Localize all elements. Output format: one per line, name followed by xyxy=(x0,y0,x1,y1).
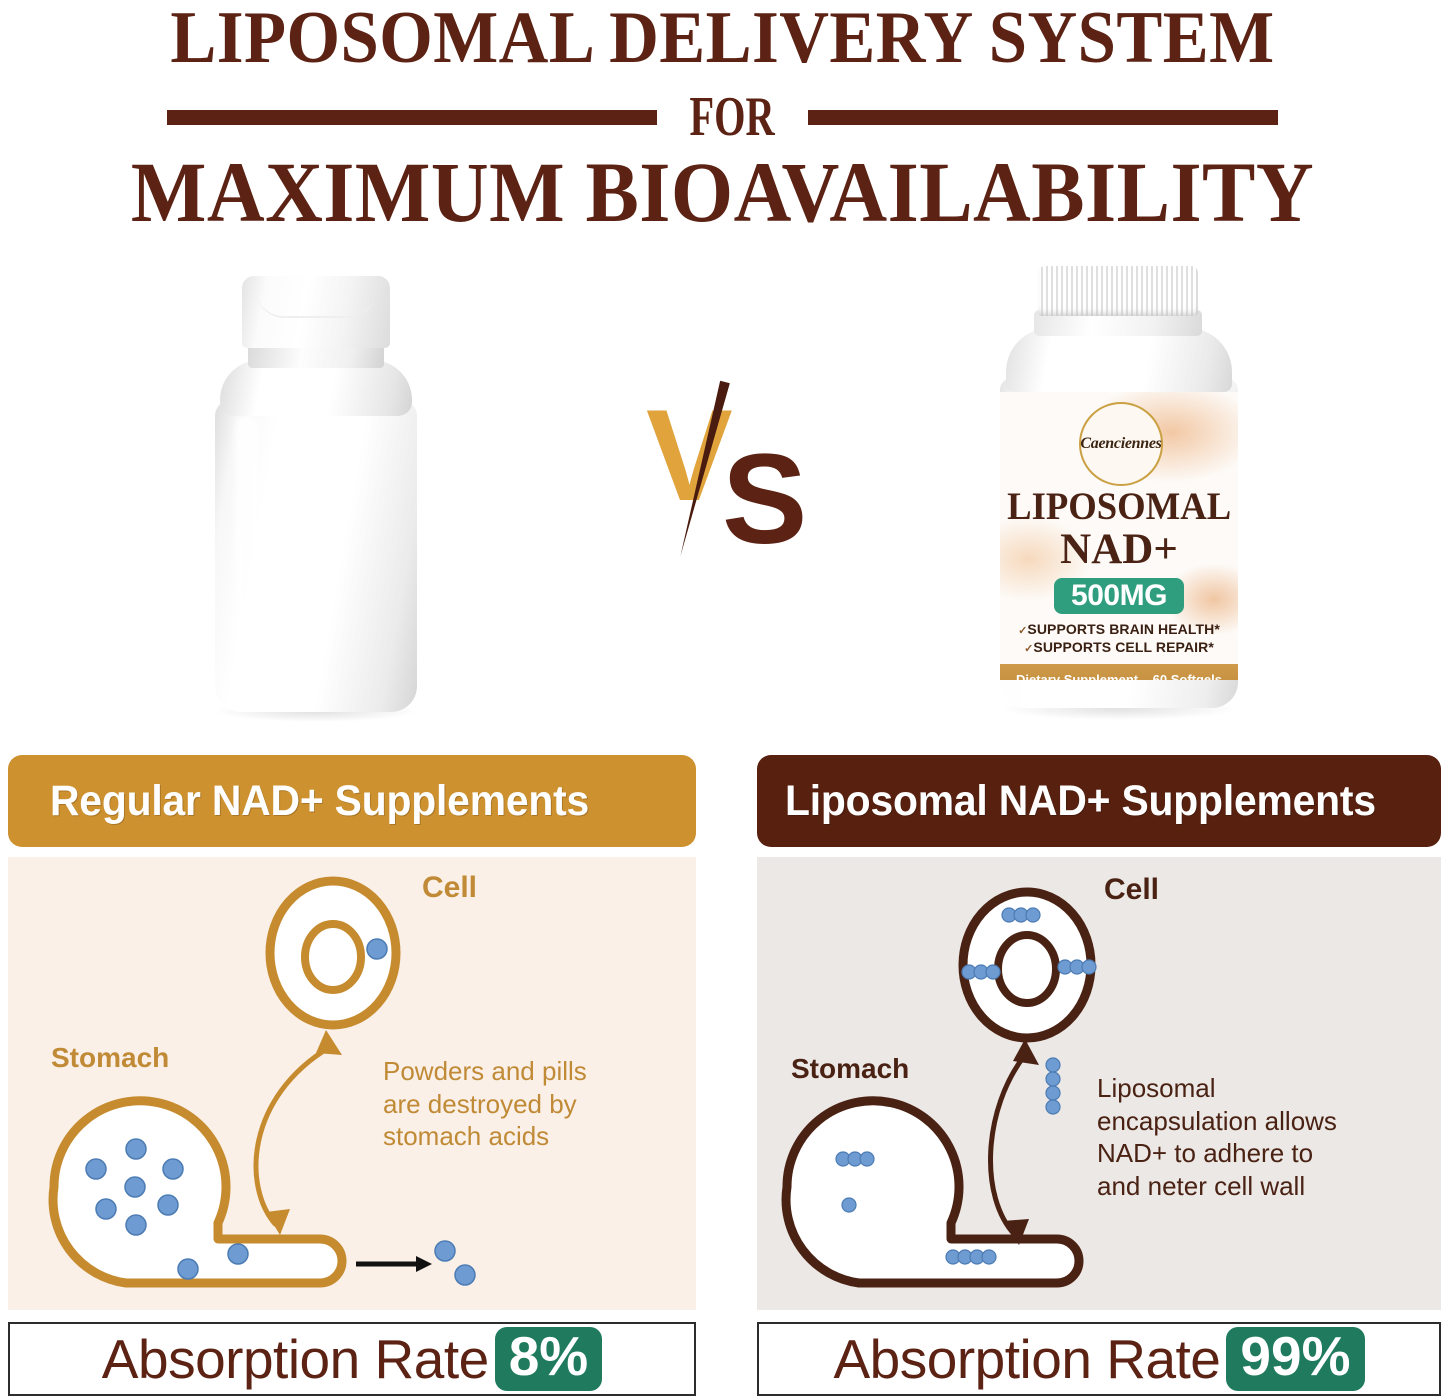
absorption-value-regular: 8% xyxy=(495,1327,603,1391)
absorption-arrow-icon xyxy=(256,1047,330,1225)
transport-liposome-chain xyxy=(1046,1058,1060,1114)
label-claims-list: SUPPORTS BRAIN HEALTH* SUPPORTS CELL REP… xyxy=(1000,620,1238,657)
regular-absorption-diagram: Cell Stomach Powders and pills are destr… xyxy=(8,857,696,1310)
header-title-line2: MAXIMUM BIOAVAILABILITY xyxy=(51,142,1395,242)
liposomal-description: Liposomal encapsulation allows NAD+ to a… xyxy=(1097,1072,1417,1202)
liposomal-absorption-diagram: Cell Stomach Liposomal encapsulation all… xyxy=(757,857,1441,1310)
header-for-row: FOR xyxy=(0,86,1445,148)
regular-description-line: stomach acids xyxy=(383,1120,668,1153)
absorption-value-liposomal: 99% xyxy=(1226,1327,1364,1391)
header-rule-right xyxy=(808,110,1278,125)
label-dose-text: 500MG xyxy=(1071,579,1167,613)
absorption-arrow-head-up xyxy=(1013,1039,1039,1065)
product-bottle-label: Caenciennes LIPOSOMAL NAD+ 500MG SUPPORT… xyxy=(1000,392,1238,680)
absorption-arrow-icon xyxy=(991,1055,1025,1235)
label-dose-badge: 500MG xyxy=(1054,578,1184,614)
absorption-arrow-head-down xyxy=(266,1209,290,1235)
regular-cell-label: Cell xyxy=(422,871,477,905)
regular-description: Powders and pills are destroyed by stoma… xyxy=(383,1055,668,1153)
header-title-line1: LIPOSOMAL DELIVERY SYSTEM xyxy=(51,0,1395,81)
header-rule-left xyxy=(167,110,657,125)
escaped-particles xyxy=(435,1241,475,1285)
liposomal-description-line: Liposomal xyxy=(1097,1072,1417,1105)
versus-s-letter: S xyxy=(722,436,807,564)
cell-nucleus-icon xyxy=(998,935,1056,1003)
panel-regular-heading-text: Regular NAD+ Supplements xyxy=(50,777,589,826)
panel-regular-supplements: Regular NAD+ Supplements xyxy=(8,755,696,1310)
plain-bottle-cap xyxy=(242,276,390,348)
cell-nucleus-icon xyxy=(305,924,361,990)
regular-description-line: are destroyed by xyxy=(383,1088,668,1121)
brand-logo: Caenciennes xyxy=(1079,402,1163,486)
page-header: LIPOSOMAL DELIVERY SYSTEM FOR MAXIMUM BI… xyxy=(0,0,1445,246)
label-product-title: LIPOSOMAL xyxy=(1007,488,1231,525)
stomach-icon xyxy=(53,1101,342,1283)
plain-bottle-image xyxy=(196,276,434,726)
panel-liposomal-heading: Liposomal NAD+ Supplements xyxy=(757,755,1441,847)
panel-regular-body: Cell Stomach Powders and pills are destr… xyxy=(8,857,696,1310)
panel-liposomal-heading-text: Liposomal NAD+ Supplements xyxy=(785,777,1376,826)
absorption-label-regular: Absorption Rate xyxy=(102,1327,489,1391)
absorption-label-liposomal: Absorption Rate xyxy=(834,1327,1221,1391)
plain-bottle-highlight xyxy=(236,416,258,666)
panel-regular-heading: Regular NAD+ Supplements xyxy=(8,755,696,847)
label-product-subtitle: NAD+ xyxy=(1000,528,1238,571)
brand-logo-text: Caenciennes xyxy=(1080,435,1161,453)
product-comparison-row: V S Caenciennes LIPOSOMAL NAD+ 500MG SUP… xyxy=(0,248,1445,748)
liposomal-description-line: NAD+ to adhere to xyxy=(1097,1137,1417,1170)
product-bottle-body: Caenciennes LIPOSOMAL NAD+ 500MG SUPPORT… xyxy=(1000,378,1238,708)
escape-arrow-icon xyxy=(356,1256,432,1272)
absorption-rate-bar-regular: Absorption Rate 8% xyxy=(8,1322,696,1396)
liposomal-stomach-label: Stomach xyxy=(791,1053,909,1085)
liposomal-description-line: encapsulation allows xyxy=(1097,1105,1417,1138)
product-bottle-shoulder xyxy=(1006,328,1232,392)
stomach-icon xyxy=(786,1101,1079,1283)
label-claim-item: SUPPORTS BRAIN HEALTH* xyxy=(1000,620,1238,638)
panel-liposomal-body: Cell Stomach Liposomal encapsulation all… xyxy=(757,857,1441,1310)
absorption-arrow-head-up xyxy=(316,1030,342,1055)
panel-liposomal-supplements: Liposomal NAD+ Supplements xyxy=(757,755,1441,1310)
liposomal-description-line: and neter cell wall xyxy=(1097,1170,1417,1203)
label-count: 60 Softgels xyxy=(1153,672,1222,681)
plain-bottle-shoulder xyxy=(220,360,412,416)
absorption-rate-bar-liposomal: Absorption Rate 99% xyxy=(757,1322,1441,1396)
label-footer-band: Dietary Supplement 60 Softgels xyxy=(1000,664,1238,680)
nad-molecule-icon xyxy=(367,939,387,959)
header-for-word: FOR xyxy=(690,89,775,145)
label-claim-item: SUPPORTS CELL REPAIR* xyxy=(1000,638,1238,656)
versus-icon: V S xyxy=(646,388,806,558)
regular-stomach-label: Stomach xyxy=(51,1042,169,1074)
regular-description-line: Powders and pills xyxy=(383,1055,668,1088)
label-supplement-type: Dietary Supplement xyxy=(1016,672,1138,681)
liposomal-cell-label: Cell xyxy=(1104,873,1159,907)
product-bottle-image: Caenciennes LIPOSOMAL NAD+ 500MG SUPPORT… xyxy=(992,266,1248,736)
product-bottle-cap xyxy=(1038,266,1198,316)
